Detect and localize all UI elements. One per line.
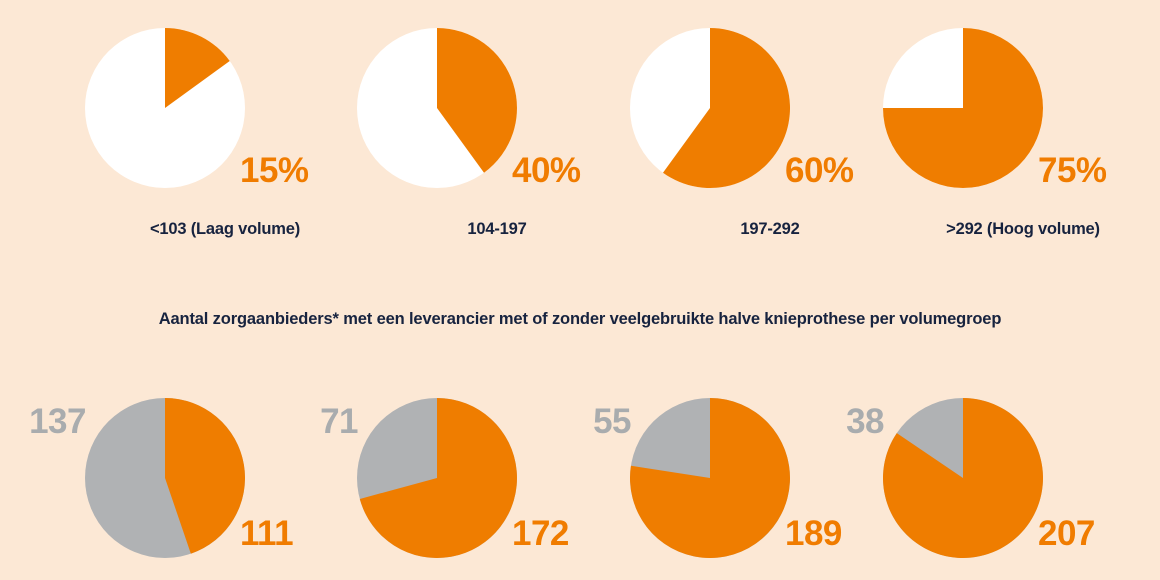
pie-chart-percent-3	[630, 28, 790, 188]
count-pie-cell-4: 38 207	[878, 392, 1160, 580]
count-label-gray: 71	[280, 402, 358, 442]
pie-chart-count-3	[630, 398, 790, 558]
volume-group-label: 197-292	[625, 220, 915, 239]
caption-line-2: per volumegroep	[870, 310, 1002, 328]
percentage-pie-cell-4: 75% >292 (Hoog volume)	[878, 0, 1160, 260]
pie-svg	[630, 398, 790, 558]
pie-chart-percent-4	[883, 28, 1043, 188]
count-label-orange: 111	[240, 514, 370, 554]
pie-svg	[85, 28, 245, 188]
percentage-pie-cell-3: 60% 197-292	[625, 0, 915, 260]
volume-group-label: 104-197	[352, 220, 642, 239]
pie-svg	[883, 398, 1043, 558]
chart-caption: Aantal zorgaanbieders* met een leveranci…	[130, 306, 1030, 332]
percentage-value-label: 15%	[240, 150, 366, 192]
pie-chart-count-4	[883, 398, 1043, 558]
pie-svg	[630, 28, 790, 188]
volume-group-label: <103 (Laag volume)	[80, 220, 370, 239]
count-label-gray: 55	[553, 402, 631, 442]
count-label-orange: 172	[512, 514, 642, 554]
pie-chart-percent-1	[85, 28, 245, 188]
percentage-value-label: 75%	[1038, 150, 1160, 192]
pie-svg	[357, 28, 517, 188]
pie-svg	[357, 398, 517, 558]
count-pie-row: 137 111 71 172 55 189	[0, 392, 1160, 580]
volume-group-label: >292 (Hoog volume)	[878, 220, 1160, 239]
count-label-gray: 137	[8, 402, 86, 442]
percentage-pie-cell-1: 15% <103 (Laag volume)	[80, 0, 370, 260]
pie-svg	[883, 28, 1043, 188]
pie-chart-percent-2	[357, 28, 517, 188]
percentage-pie-cell-2: 40% 104-197	[352, 0, 642, 260]
pie-svg	[85, 398, 245, 558]
infographic-canvas: 15% <103 (Laag volume) 40% 104-197 60% 1	[0, 0, 1160, 580]
count-label-gray: 38	[806, 402, 884, 442]
caption-line-1: Aantal zorgaanbieders* met een leveranci…	[159, 310, 866, 328]
percentage-pie-row: 15% <103 (Laag volume) 40% 104-197 60% 1	[0, 0, 1160, 260]
count-label-orange: 207	[1038, 514, 1160, 554]
pie-chart-count-2	[357, 398, 517, 558]
pie-chart-count-1	[85, 398, 245, 558]
percentage-value-label: 40%	[512, 150, 638, 192]
